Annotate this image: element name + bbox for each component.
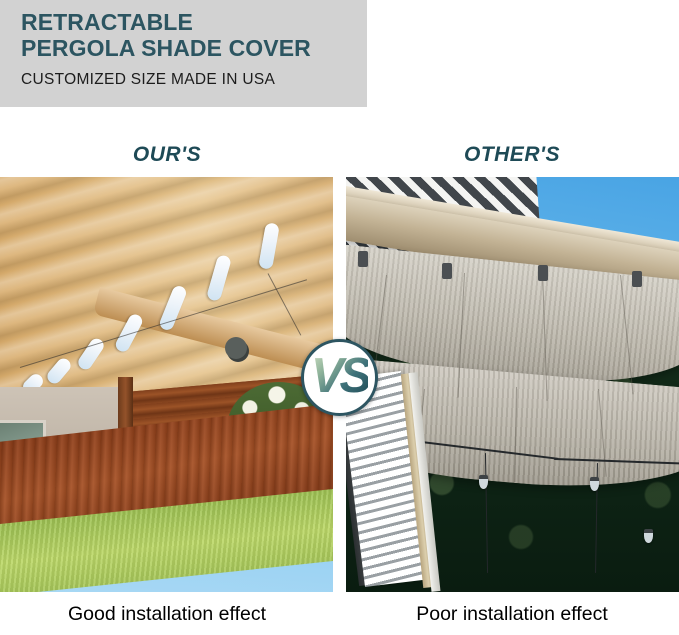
string-light-bulb	[479, 475, 488, 489]
caption-good-installation: Good installation effect	[0, 603, 334, 626]
column-heading-ours: OUR'S	[0, 143, 334, 167]
satellite-dish	[225, 337, 247, 359]
fabric-clip	[538, 265, 548, 281]
vs-badge: VS	[301, 339, 378, 416]
header-banner: RETRACTABLE PERGOLA SHADE COVER CUSTOMIZ…	[0, 0, 367, 107]
vs-badge-label: VS	[311, 352, 368, 401]
fabric-clip	[632, 271, 642, 287]
string-light-bulb	[590, 477, 599, 491]
fabric-clip	[442, 263, 452, 279]
photo-poor-installation	[346, 177, 679, 592]
fabric-clip	[358, 251, 368, 267]
product-subtitle: CUSTOMIZED SIZE MADE IN USA	[21, 71, 275, 89]
column-heading-others: OTHER'S	[345, 143, 679, 167]
photo-good-installation	[0, 177, 333, 592]
product-title-line-2: PERGOLA SHADE COVER	[21, 35, 311, 61]
caption-poor-installation: Poor installation effect	[345, 603, 679, 626]
string-light-bulb	[644, 529, 653, 543]
product-title-line-1: RETRACTABLE	[21, 9, 193, 35]
